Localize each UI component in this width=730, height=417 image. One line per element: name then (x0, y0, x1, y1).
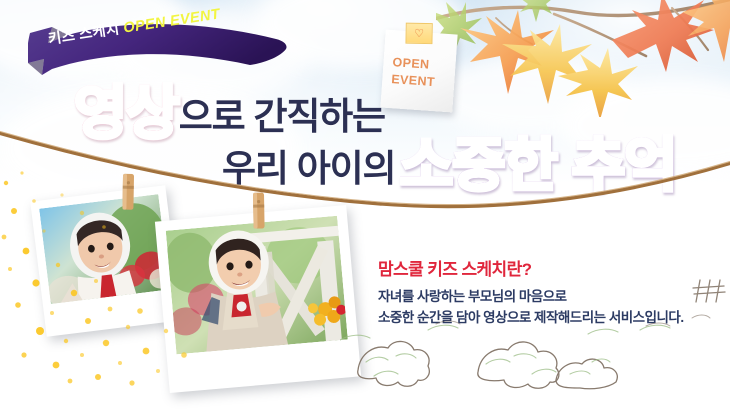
info-title: 맘스쿨 키즈 스케치란? (378, 255, 718, 280)
heart-sticker-icon: ♡ (405, 23, 432, 44)
sketch-bush-doodles (340, 300, 730, 417)
sketch-fence-doodle (690, 278, 730, 304)
sparkle-dots-decoration (0, 165, 330, 400)
kids-sketch-event-banner: 키즈 스케치 OPEN EVENT ♡ OPEN EVENT 영상으로 간직하는… (0, 0, 730, 417)
